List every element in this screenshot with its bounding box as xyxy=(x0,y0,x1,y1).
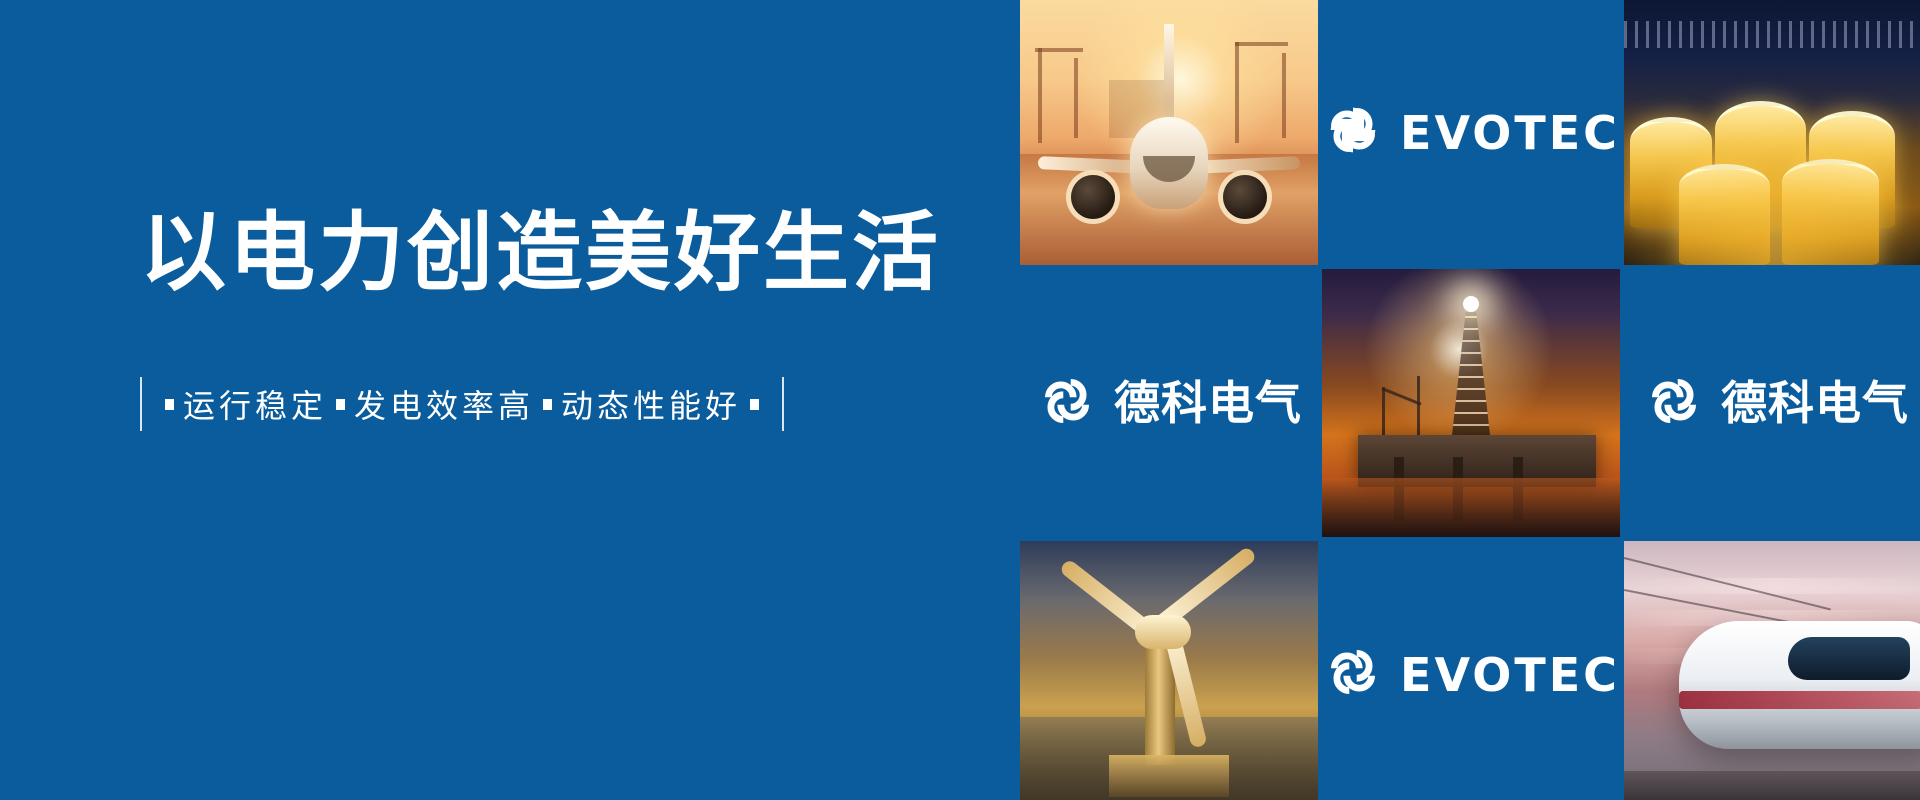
photo-oil-storage-tanks xyxy=(1624,0,1920,265)
pinwheel-logo-icon xyxy=(1322,99,1384,166)
square-bullet-icon xyxy=(336,399,345,410)
wordmark-evotec: EVOTEC xyxy=(1400,652,1620,698)
wordmark-deke: 德科电气 xyxy=(1114,380,1302,426)
photo-airplane-airport xyxy=(1020,0,1318,265)
page-title: 以电力创造美好生活 xyxy=(140,210,940,296)
photo-offshore-oil-rig xyxy=(1322,269,1620,537)
copy-block: 以电力创造美好生活 运行稳定 发电效率高 动态性能好 xyxy=(140,210,940,434)
square-bullet-icon xyxy=(165,399,174,410)
feature-item-2: 发电效率高 xyxy=(354,381,534,427)
photo-wind-turbine xyxy=(1020,541,1318,800)
rule-right xyxy=(782,377,784,431)
wordmark-deke: 德科电气 xyxy=(1721,380,1909,426)
feature-item-1: 运行稳定 xyxy=(183,381,327,427)
logo-evotec-bottom: EVOTEC xyxy=(1322,541,1620,800)
wordmark-evotec: EVOTEC xyxy=(1400,110,1620,156)
square-bullet-icon xyxy=(543,399,552,410)
logo-deke-left: 德科电气 xyxy=(1020,269,1318,537)
promo-banner: 以电力创造美好生活 运行稳定 发电效率高 动态性能好 xyxy=(0,0,1920,800)
feature-list: 运行稳定 发电效率高 动态性能好 xyxy=(140,374,940,434)
pinwheel-logo-icon xyxy=(1322,641,1384,708)
pinwheel-logo-icon xyxy=(1036,370,1098,437)
logo-deke-right: 德科电气 xyxy=(1624,269,1920,537)
image-logo-grid: EVOTEC xyxy=(1020,0,1920,800)
feature-item-3: 动态性能好 xyxy=(561,381,741,427)
logo-evotec-top: EVOTEC xyxy=(1322,0,1620,265)
pinwheel-logo-icon xyxy=(1643,370,1705,437)
square-bullet-icon xyxy=(750,399,759,410)
photo-high-speed-train xyxy=(1624,541,1920,800)
